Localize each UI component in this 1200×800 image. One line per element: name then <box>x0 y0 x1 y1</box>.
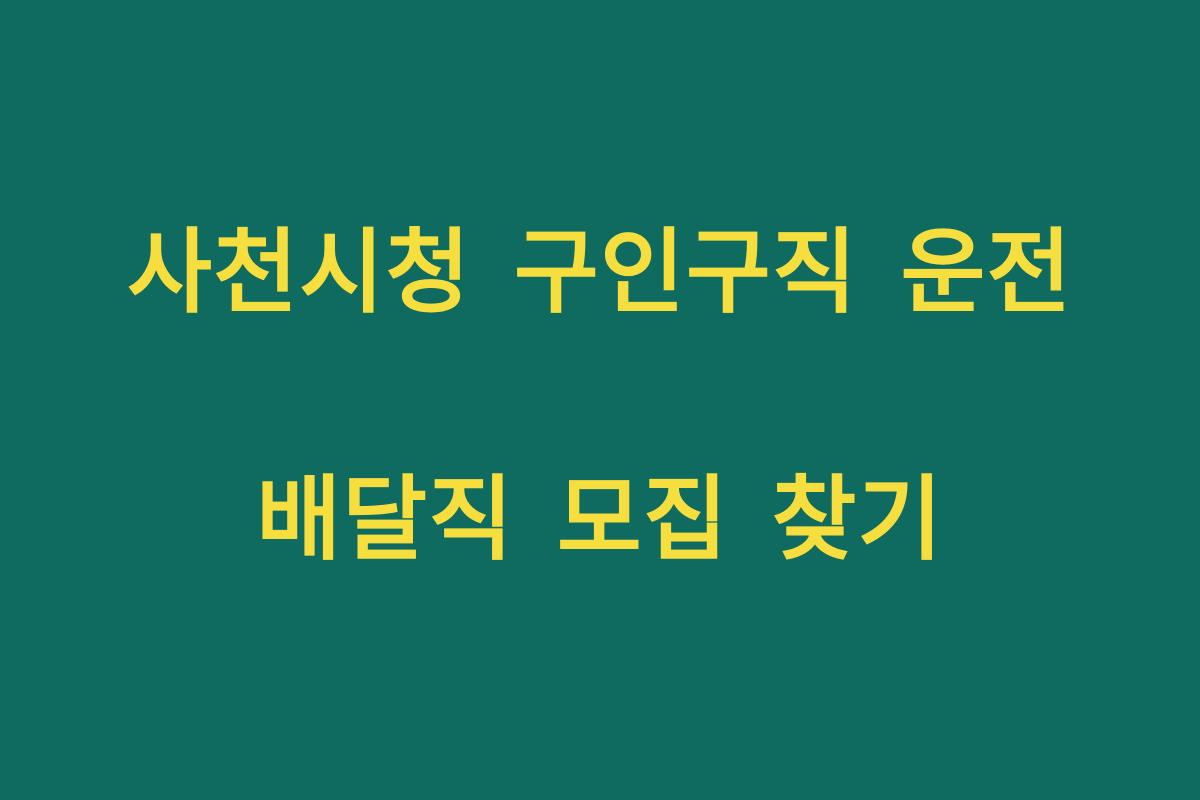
headline-line-1: 사천시청 구인구직 운전 <box>70 212 1130 333</box>
banner-canvas: 사천시청 구인구직 운전 배달직 모집 찾기 <box>0 0 1200 800</box>
page-title: 사천시청 구인구직 운전 배달직 모집 찾기 <box>70 90 1130 701</box>
headline-line-2: 배달직 모집 찾기 <box>70 459 1130 580</box>
